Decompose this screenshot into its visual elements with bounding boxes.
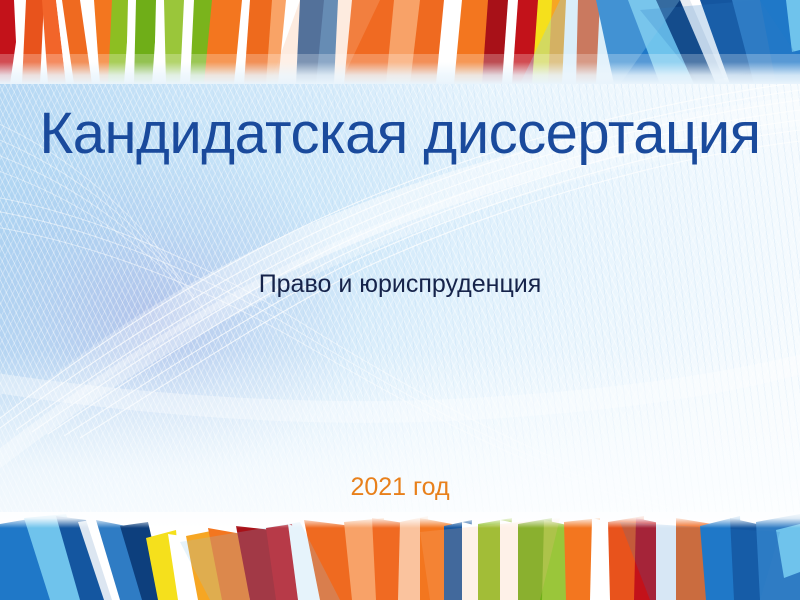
top-decorative-border [0, 0, 800, 84]
slide-title: Кандидатская диссертация [0, 104, 800, 165]
slide-year: 2021 год [0, 473, 800, 502]
slide-subtitle: Право и юриспруденция [0, 270, 800, 299]
bottom-decorative-border [0, 512, 800, 600]
presentation-slide: Кандидатская диссертация Право и юриспру… [0, 0, 800, 600]
